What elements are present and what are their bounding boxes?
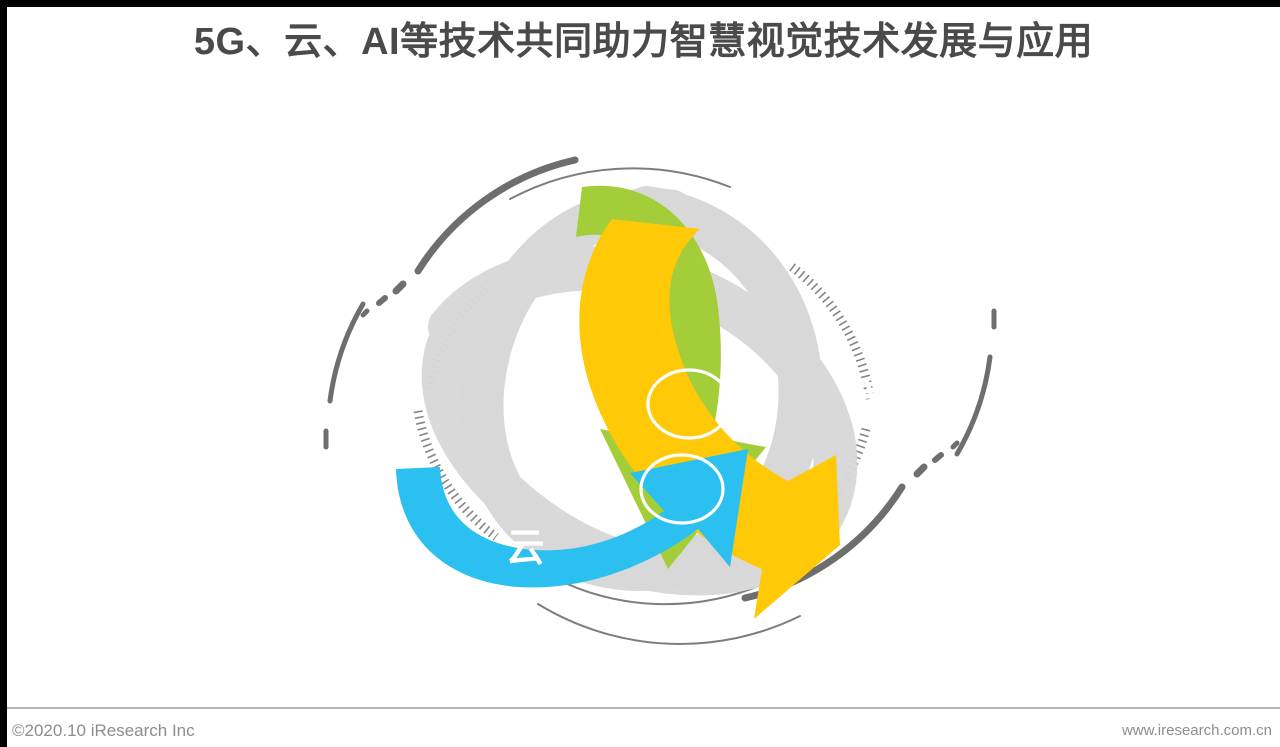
footer-divider — [7, 707, 1280, 709]
title-bar: 5G、云、AI等技术共同助力智慧视觉技术发展与应用 — [7, 19, 1280, 67]
arrow-ai-label: AI — [852, 371, 889, 412]
decor-arc-left — [330, 304, 363, 401]
decor-dash-top-left-1 — [396, 284, 403, 291]
diagram-svg: 5G AI 云 — [300, 99, 1020, 659]
decor-dash-top-left-3 — [363, 311, 367, 315]
footer-copyright: ©2020.10 iResearch Inc — [12, 721, 195, 741]
technology-cycle-diagram: 5G AI 云 — [300, 99, 1020, 659]
page-title: 5G、云、AI等技术共同助力智慧视觉技术发展与应用 — [194, 19, 1093, 67]
decor-dash-bottom-right-3 — [953, 443, 957, 447]
decor-dash-bottom-right-2 — [935, 455, 941, 460]
decor-dash-top-left-2 — [379, 298, 385, 303]
decor-arc-right — [957, 357, 990, 454]
arrow-cloud-label: 云 — [505, 527, 544, 570]
decor-dash-bottom-right-1 — [917, 467, 924, 474]
footer-website: www.iresearch.com.cn — [1122, 722, 1272, 739]
slide-canvas: 5G、云、AI等技术共同助力智慧视觉技术发展与应用 — [0, 0, 1280, 747]
footer-bar: ©2020.10 iResearch Inc www.iresearch.com… — [7, 713, 1280, 747]
